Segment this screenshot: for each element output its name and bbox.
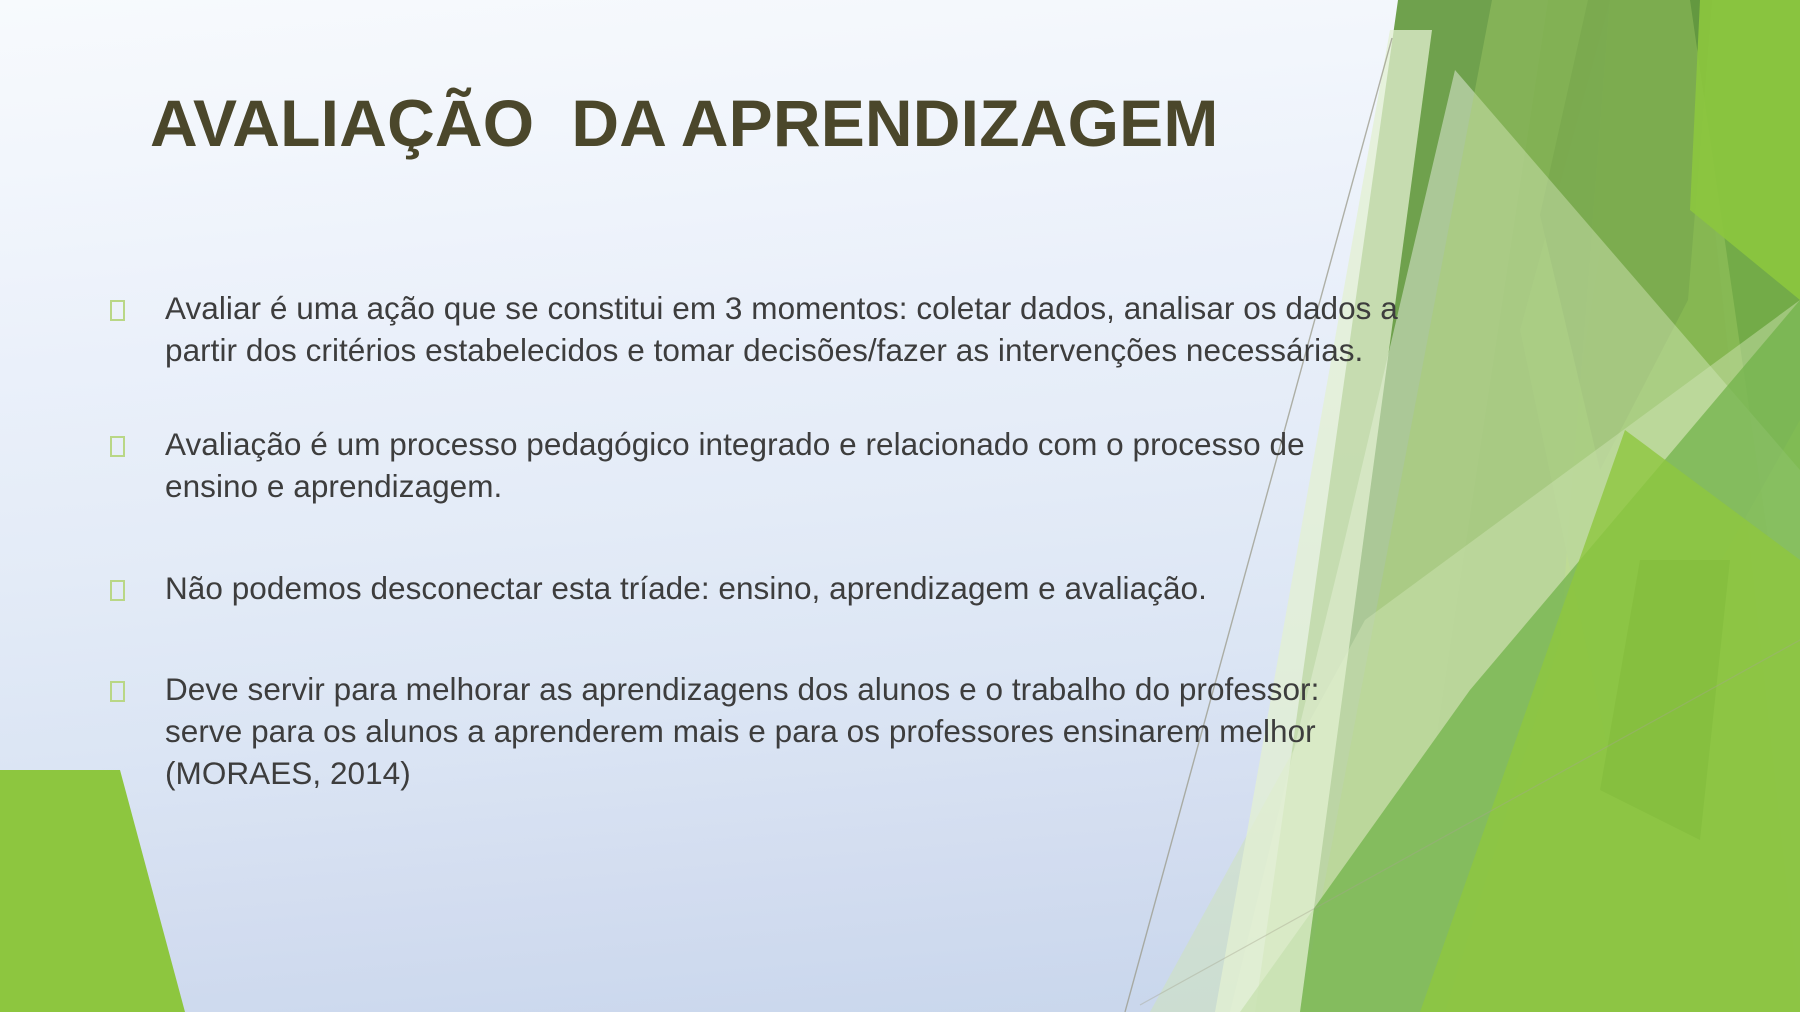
green-shape-bright-foreground xyxy=(1420,430,1800,1012)
green-shape-mid-v xyxy=(1520,0,1800,760)
list-item-text: Avaliar é uma ação que se constitui em 3… xyxy=(165,288,1460,372)
slide-canvas: AVALIAÇÃO DA APRENDIZAGEM Avaliar é uma … xyxy=(0,0,1800,1012)
hollow-square-bullet-icon xyxy=(110,300,125,321)
page-title: AVALIAÇÃO DA APRENDIZAGEM xyxy=(150,88,1370,159)
list-item: Avaliação é um processo pedagógico integ… xyxy=(110,424,1470,508)
list-item: Avaliar é uma ação que se constitui em 3… xyxy=(110,288,1470,372)
green-shape-top-sliver xyxy=(1690,0,1800,300)
green-shape-dark-accent xyxy=(1600,560,1730,840)
green-shape-base-right xyxy=(1480,0,1800,1012)
list-item-text: Avaliação é um processo pedagógico integ… xyxy=(165,424,1380,508)
hollow-square-bullet-icon xyxy=(110,436,125,457)
content-placeholder: Avaliar é uma ação que se constitui em 3… xyxy=(110,288,1470,795)
list-item-text: Não podemos desconectar esta tríade: ens… xyxy=(165,568,1415,610)
green-shape-dark-chevron xyxy=(1540,0,1712,470)
bottom-left-green-wedge xyxy=(0,770,185,1012)
hollow-square-bullet-icon xyxy=(110,681,125,702)
hollow-square-bullet-icon xyxy=(110,580,125,601)
list-item-text: Deve servir para melhorar as aprendizage… xyxy=(165,669,1405,795)
list-item: Não podemos desconectar esta tríade: ens… xyxy=(110,568,1470,610)
list-item: Deve servir para melhorar as aprendizage… xyxy=(110,669,1470,795)
title-placeholder: AVALIAÇÃO DA APRENDIZAGEM xyxy=(150,88,1370,159)
